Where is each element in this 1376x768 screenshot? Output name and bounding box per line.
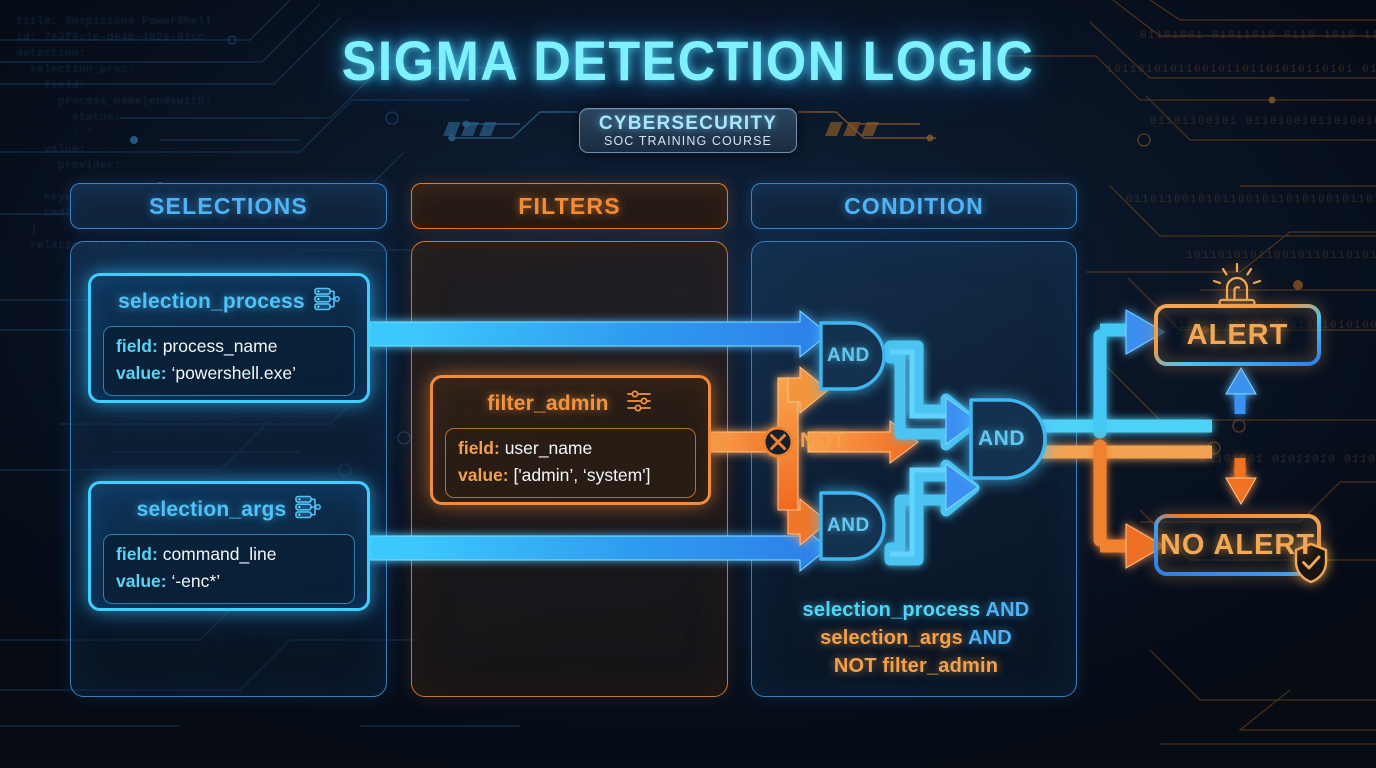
field-label: field: — [116, 544, 158, 564]
page-title: SIGMA DETECTION LOGIC — [48, 28, 1328, 93]
value-value: ['admin’, ‘system'] — [513, 465, 650, 485]
server-stack-icon — [295, 495, 321, 525]
formula-selection-process: selection_process — [803, 599, 981, 621]
background-binary-row-7: 01101001 01011010 0110 1010 1101 0110 — [1200, 452, 1376, 469]
server-stack-icon — [314, 287, 340, 317]
not-label: NOT — [800, 429, 846, 453]
value-value: ‘powershell.exe’ — [171, 363, 296, 383]
gate-and-final[interactable]: AND — [968, 397, 1044, 481]
value-row: value: ‘powershell.exe’ — [116, 360, 342, 387]
outcome-no-alert-label: NO ALERT — [1160, 529, 1315, 562]
field-row: field: process_name — [116, 333, 342, 360]
formula-line-3: NOT filter_admin — [766, 652, 1066, 680]
outcome-alert-label: ALERT — [1187, 319, 1289, 352]
badge-line-2: SOC TRAINING COURSE — [580, 134, 796, 148]
field-row: field: user_name — [458, 435, 683, 462]
gate-label: AND — [818, 490, 884, 562]
card-body: field: process_name value: ‘powershell.e… — [103, 326, 355, 396]
card-selection-process[interactable]: selection_process field: process_name — [88, 273, 370, 403]
card-selection-args[interactable]: selection_args field: command_line — [88, 481, 370, 611]
selection-process-name: selection_process — [118, 290, 305, 314]
circle-x-icon[interactable] — [761, 425, 795, 459]
background-binary-row-4: 0110110010101100101101010010110101101101 — [1126, 192, 1376, 209]
card-title-row: selection_args — [103, 493, 355, 534]
card-title-row: filter_admin — [445, 387, 696, 428]
gate-label: AND — [818, 320, 884, 392]
gate-and-bottom[interactable]: AND — [818, 490, 884, 562]
field-value: command_line — [163, 544, 277, 564]
card-body: field: command_line value: ‘-enc*’ — [103, 534, 355, 604]
connector-alert-up — [1226, 368, 1256, 414]
gate-label: AND — [968, 397, 1044, 481]
condition-formula: selection_process AND selection_args AND… — [766, 596, 1066, 680]
formula-filter-admin: filter_admin — [882, 655, 998, 677]
gate-and-top[interactable]: AND — [818, 320, 884, 392]
field-value: user_name — [505, 438, 593, 458]
formula-and-2: AND — [968, 627, 1012, 649]
selection-args-name: selection_args — [137, 498, 287, 522]
value-label: value: — [116, 363, 167, 383]
filter-admin-name: filter_admin — [487, 392, 608, 416]
value-label: value: — [458, 465, 509, 485]
diagram-canvas: title: Suspicious PowerShell id: 7a3f9c1… — [0, 0, 1376, 768]
column-header-selections[interactable]: SELECTIONS — [70, 183, 387, 229]
sliders-icon — [626, 389, 654, 419]
value-label: value: — [116, 571, 167, 591]
background-binary-row-3: 01101100101 0110100101101001011010010110 — [1150, 114, 1376, 131]
value-row: value: ['admin’, ‘system'] — [458, 462, 683, 489]
formula-not: NOT — [834, 655, 877, 677]
column-header-filters[interactable]: FILTERS — [411, 183, 728, 229]
card-body: field: user_name value: ['admin’, ‘syste… — [445, 428, 696, 498]
field-value: process_name — [163, 336, 278, 356]
formula-line-1: selection_process AND — [766, 596, 1066, 624]
outcome-alert[interactable]: ALERT — [1156, 306, 1319, 364]
value-value: ‘-enc*’ — [171, 571, 220, 591]
formula-line-2: selection_args AND — [766, 624, 1066, 652]
card-filter-admin[interactable]: filter_admin field: user_name — [430, 375, 711, 505]
formula-and-1: AND — [986, 599, 1030, 621]
field-row: field: command_line — [116, 541, 342, 568]
field-label: field: — [458, 438, 500, 458]
column-header-condition[interactable]: CONDITION — [751, 183, 1077, 229]
badge-line-1: CYBERSECURITY — [580, 113, 796, 135]
value-row: value: ‘-enc*’ — [116, 568, 342, 595]
course-badge: CYBERSECURITY SOC TRAINING COURSE — [579, 108, 797, 153]
field-label: field: — [116, 336, 158, 356]
formula-selection-args: selection_args — [820, 627, 963, 649]
card-title-row: selection_process — [103, 285, 355, 326]
